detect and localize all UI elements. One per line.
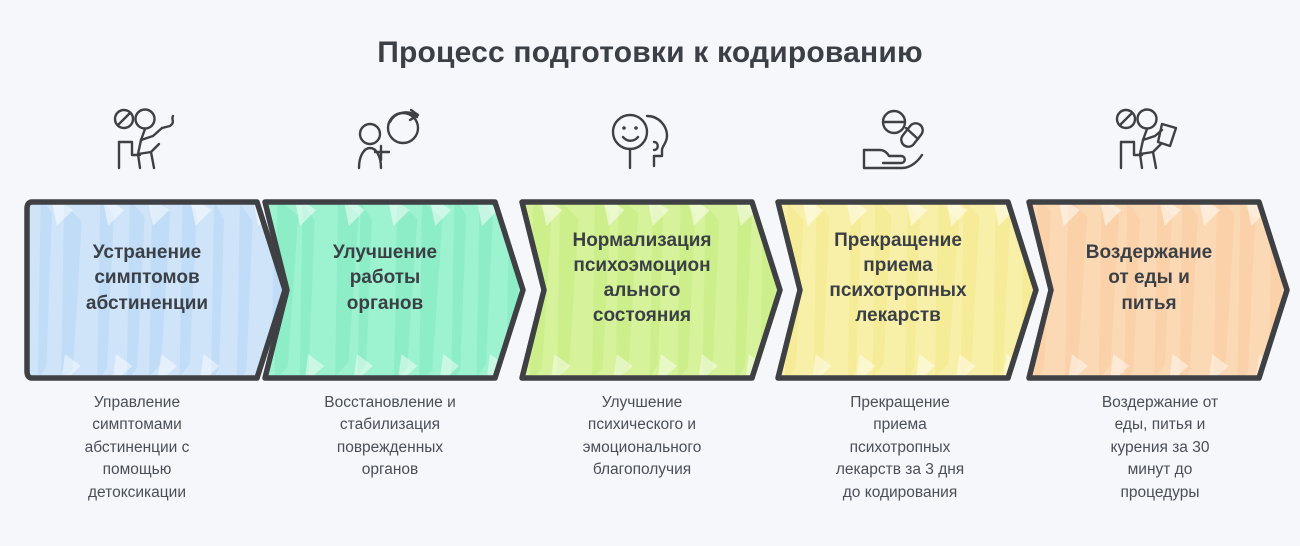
hand-with-pills-icon bbox=[769, 100, 1031, 184]
stage-label-2: Улучшение работы органов bbox=[256, 188, 518, 368]
stage-caption-2: Восстановление и стабилизация поврежденн… bbox=[270, 392, 510, 482]
stage-label-1: Устранение симптомов абстиненции bbox=[18, 188, 280, 368]
page-title: Процесс подготовки к кодированию bbox=[0, 36, 1300, 70]
process-stage-5[interactable]: Воздержание от еды и питья bbox=[1020, 100, 1282, 385]
stage-label-3: Нормализация психоэмоцион ального состоя… bbox=[513, 188, 775, 368]
no-eating-drinking-person-icon bbox=[1020, 100, 1282, 184]
stage-label-4: Прекращение приема психотропных лекарств bbox=[769, 188, 1031, 368]
stage-caption-4: Прекращение приема психотропных лекарств… bbox=[780, 392, 1020, 504]
stage-label-5: Воздержание от еды и питья bbox=[1020, 188, 1282, 368]
process-flow: Устранение симптомов абстиненции Улучшен… bbox=[0, 100, 1300, 385]
process-stage-1[interactable]: Устранение симптомов абстиненции bbox=[18, 100, 280, 385]
stage-caption-5: Воздержание от еды, питья и курения за 3… bbox=[1040, 392, 1280, 504]
head-smiley-mind-icon bbox=[513, 100, 775, 184]
process-stage-2[interactable]: Улучшение работы органов bbox=[256, 100, 518, 385]
person-recovery-refresh-icon bbox=[256, 100, 518, 184]
process-stage-4[interactable]: Прекращение приема психотропных лекарств bbox=[769, 100, 1031, 385]
stage-caption-1: Управление симптомами абстиненции с помо… bbox=[17, 392, 257, 504]
process-stage-3[interactable]: Нормализация психоэмоцион ального состоя… bbox=[513, 100, 775, 385]
stage-caption-3: Улучшение психического и эмоционального … bbox=[522, 392, 762, 482]
no-smoking-person-icon bbox=[18, 100, 280, 184]
